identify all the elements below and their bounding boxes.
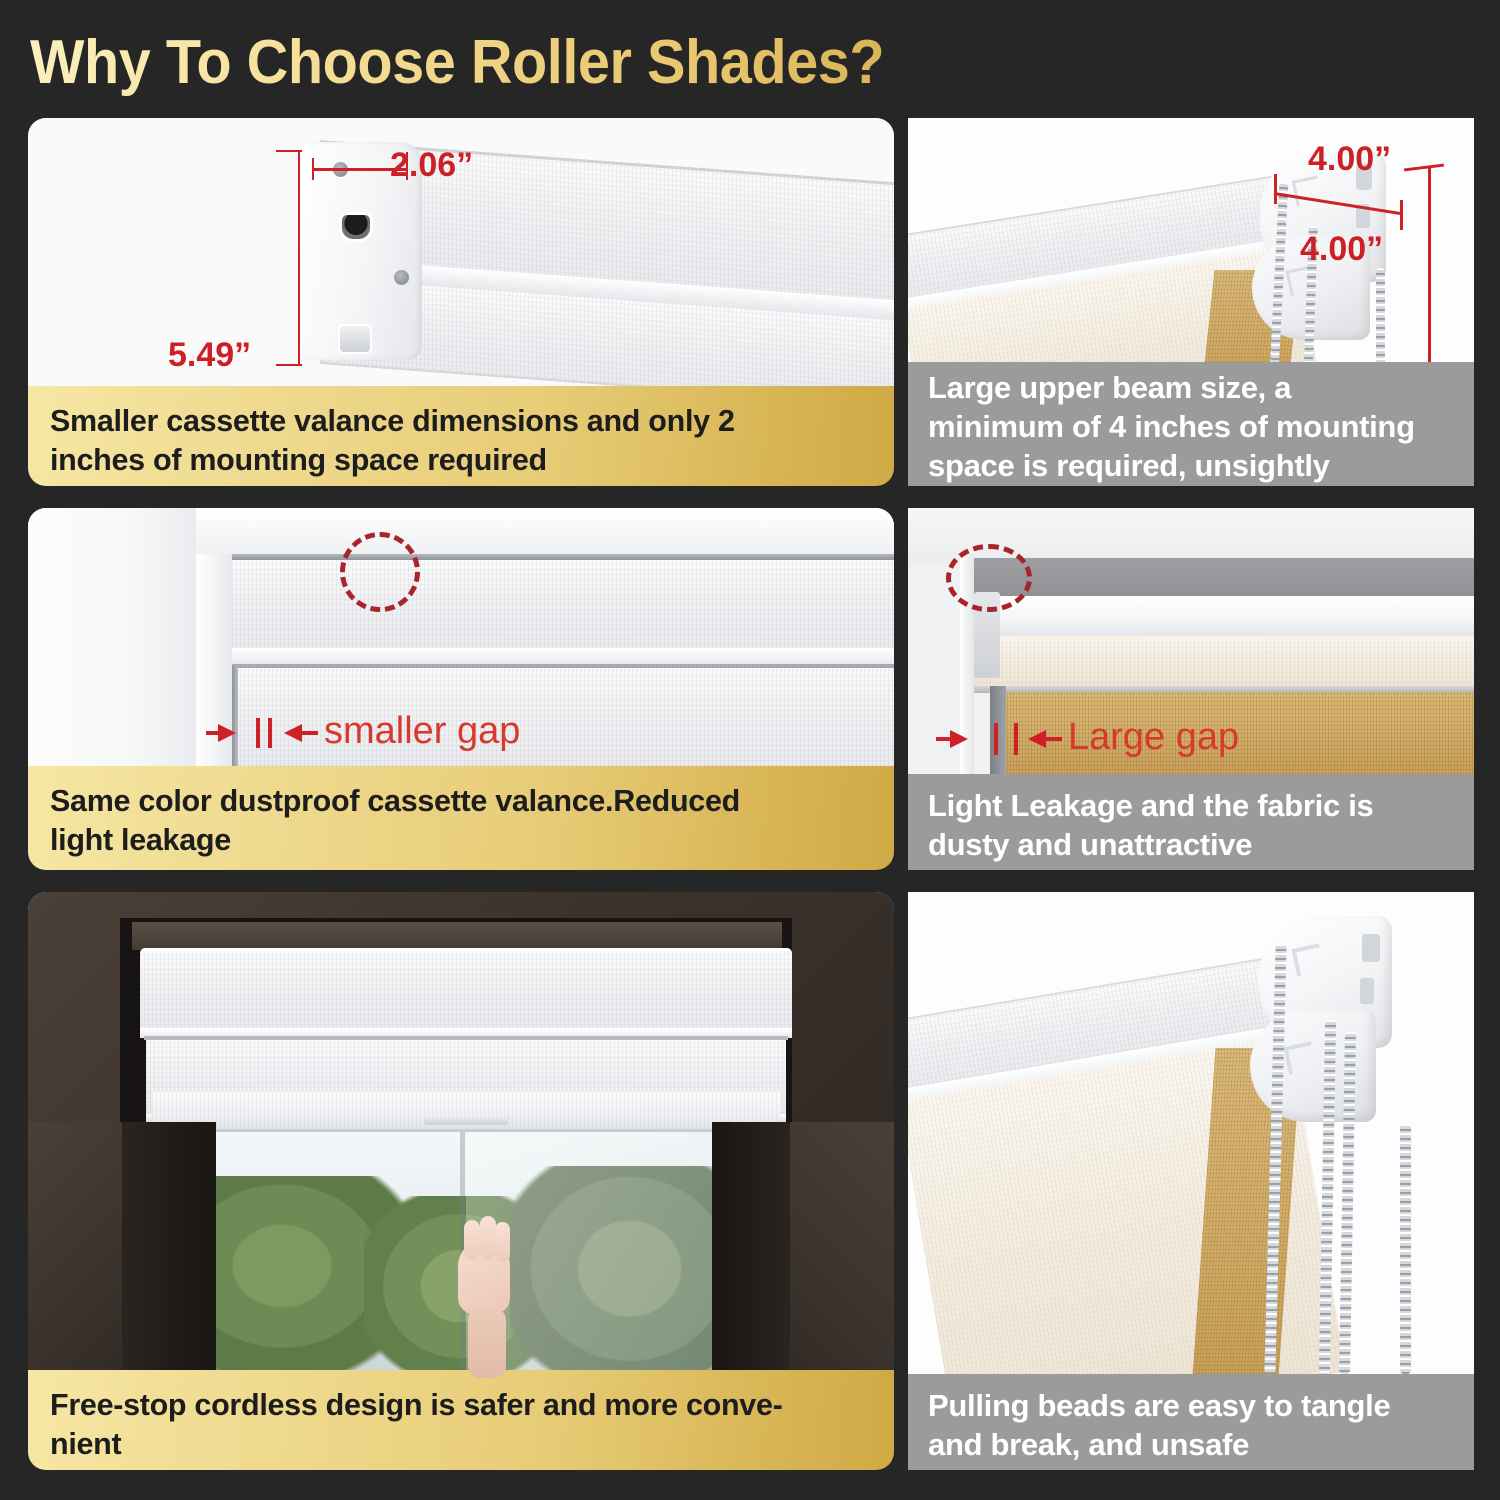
- caption-line-1: Light Leakage and the fabric is: [928, 786, 1460, 825]
- height-dimension-tick-top: [276, 150, 302, 152]
- gap-stem-left: [206, 731, 222, 735]
- caption-line-1: Pulling beads are easy to tangle: [928, 1386, 1460, 1425]
- hand-finger-3: [495, 1222, 510, 1262]
- window-jamb-left: [120, 1122, 216, 1370]
- window-jamb-right: [712, 1122, 792, 1370]
- seam-highlight-ellipse: [340, 532, 420, 612]
- photo-cassette-valance: 5.49” 2.06”: [28, 118, 894, 386]
- card-large-upper-beam: 4.00” 4.00” Large upper beam size, a min…: [908, 118, 1474, 486]
- photo-bead-chains: [908, 892, 1474, 1374]
- gap-stem-left: [936, 737, 954, 741]
- hand-finger-1: [464, 1220, 480, 1260]
- window-frame-top: [196, 508, 894, 554]
- width-dimension-label: 2.06”: [390, 146, 473, 185]
- cassette-slot: [339, 212, 373, 242]
- page-title: Why To Choose Roller Shades?: [30, 24, 1146, 102]
- cassette-screw-mid: [394, 270, 409, 285]
- gap-tick-left: [256, 718, 260, 748]
- gap-tick-right: [268, 718, 272, 748]
- caption-cordless-design: Free-stop cordless design is safer and m…: [28, 1370, 894, 1470]
- hand-wrist: [468, 1308, 506, 1378]
- cassette-bracket-clip: [338, 324, 372, 354]
- rail-grip-overlay: [424, 1116, 508, 1125]
- caption-large-upper-beam: Large upper beam size, a minimum of 4 in…: [908, 362, 1474, 486]
- cassette-valance-front: [140, 948, 792, 1030]
- bracket-logo-mark-1: [1291, 943, 1324, 976]
- caption-line-1: Free-stop cordless design is safer and m…: [50, 1386, 874, 1425]
- caption-line-1: Same color dustproof cassette valance.Re…: [50, 782, 874, 821]
- window-frame-left: [28, 508, 206, 766]
- gap-highlight-ellipse: [946, 544, 1032, 612]
- roller-tube-white: [966, 596, 1474, 640]
- caption-line-2: and break, and unsafe: [928, 1425, 1460, 1464]
- hand-reaching: [452, 1218, 524, 1378]
- height-dimension-line: [298, 150, 300, 366]
- large-gap-label: Large gap: [1068, 716, 1239, 759]
- beam-height-label: 4.00”: [1300, 230, 1383, 269]
- beam-width-tick-left: [1274, 174, 1277, 204]
- photo-large-beam: 4.00” 4.00”: [908, 118, 1474, 390]
- gap-edge-dark: [232, 666, 238, 766]
- bracket-mount-slot-1: [1362, 934, 1380, 962]
- photo-large-gap: Large gap: [908, 508, 1474, 774]
- card-smaller-cassette: 5.49” 2.06” Smaller cassette valance dim…: [28, 118, 894, 486]
- caption-dustproof-valance: Same color dustproof cassette valance.Re…: [28, 766, 894, 870]
- gap-tick-right: [1014, 723, 1018, 755]
- caption-line-2: dusty and unattractive: [928, 825, 1460, 864]
- gap-shadow-dark: [990, 686, 1006, 774]
- caption-line-3: space is required, unsightly: [928, 446, 1460, 485]
- caption-line-2: inches of mounting space required: [50, 441, 874, 480]
- beam-top-dark: [966, 558, 1474, 600]
- bottom-rail-overlay: [152, 1092, 780, 1132]
- photo-smaller-gap: smaller gap: [28, 508, 894, 766]
- valance-fabric-band: [232, 560, 894, 650]
- card-light-leakage: Large gap Light Leakage and the fabric i…: [908, 508, 1474, 870]
- caption-pulling-beads: Pulling beads are easy to tangle and bre…: [908, 1374, 1474, 1470]
- caption-line-1: Smaller cassette valance dimensions and …: [50, 402, 874, 441]
- infographic-page: Why To Choose Roller Shades? 5.49”: [0, 0, 1500, 1500]
- bead-chain-4: [1400, 1124, 1411, 1374]
- height-dimension-tick-bottom: [276, 364, 302, 366]
- room-wall-left: [28, 1122, 122, 1370]
- caption-line-1: Large upper beam size, a: [928, 368, 1460, 407]
- caption-smaller-cassette: Smaller cassette valance dimensions and …: [28, 386, 894, 486]
- width-dimension-tick-left: [312, 158, 314, 180]
- card-pulling-beads: Pulling beads are easy to tangle and bre…: [908, 892, 1474, 1470]
- caption-line-2: light leakage: [50, 821, 874, 860]
- beam-width-label: 4.00”: [1308, 140, 1391, 179]
- beam-width-tick-right: [1400, 200, 1403, 230]
- bracket-logo-mark-2: [1283, 1041, 1316, 1074]
- window-reveal-top: [132, 922, 782, 950]
- gap-tick-left: [994, 723, 998, 755]
- fabric-cream-band: [966, 636, 1474, 688]
- room-wall-right: [790, 1122, 894, 1370]
- caption-light-leakage: Light Leakage and the fabric is dusty an…: [908, 774, 1474, 870]
- gap-stem-right: [300, 731, 318, 735]
- caption-line-2: nient: [50, 1425, 874, 1464]
- hand-finger-2: [480, 1216, 496, 1260]
- bracket-mount-slot-2: [1360, 978, 1374, 1004]
- gap-stem-right: [1044, 737, 1062, 741]
- caption-line-2: minimum of 4 inches of mounting: [928, 407, 1460, 446]
- smaller-gap-label: smaller gap: [324, 710, 520, 753]
- card-dustproof-valance: smaller gap Same color dustproof cassett…: [28, 508, 894, 870]
- height-dimension-label: 5.49”: [168, 336, 251, 375]
- beam-height-line: [1428, 166, 1431, 390]
